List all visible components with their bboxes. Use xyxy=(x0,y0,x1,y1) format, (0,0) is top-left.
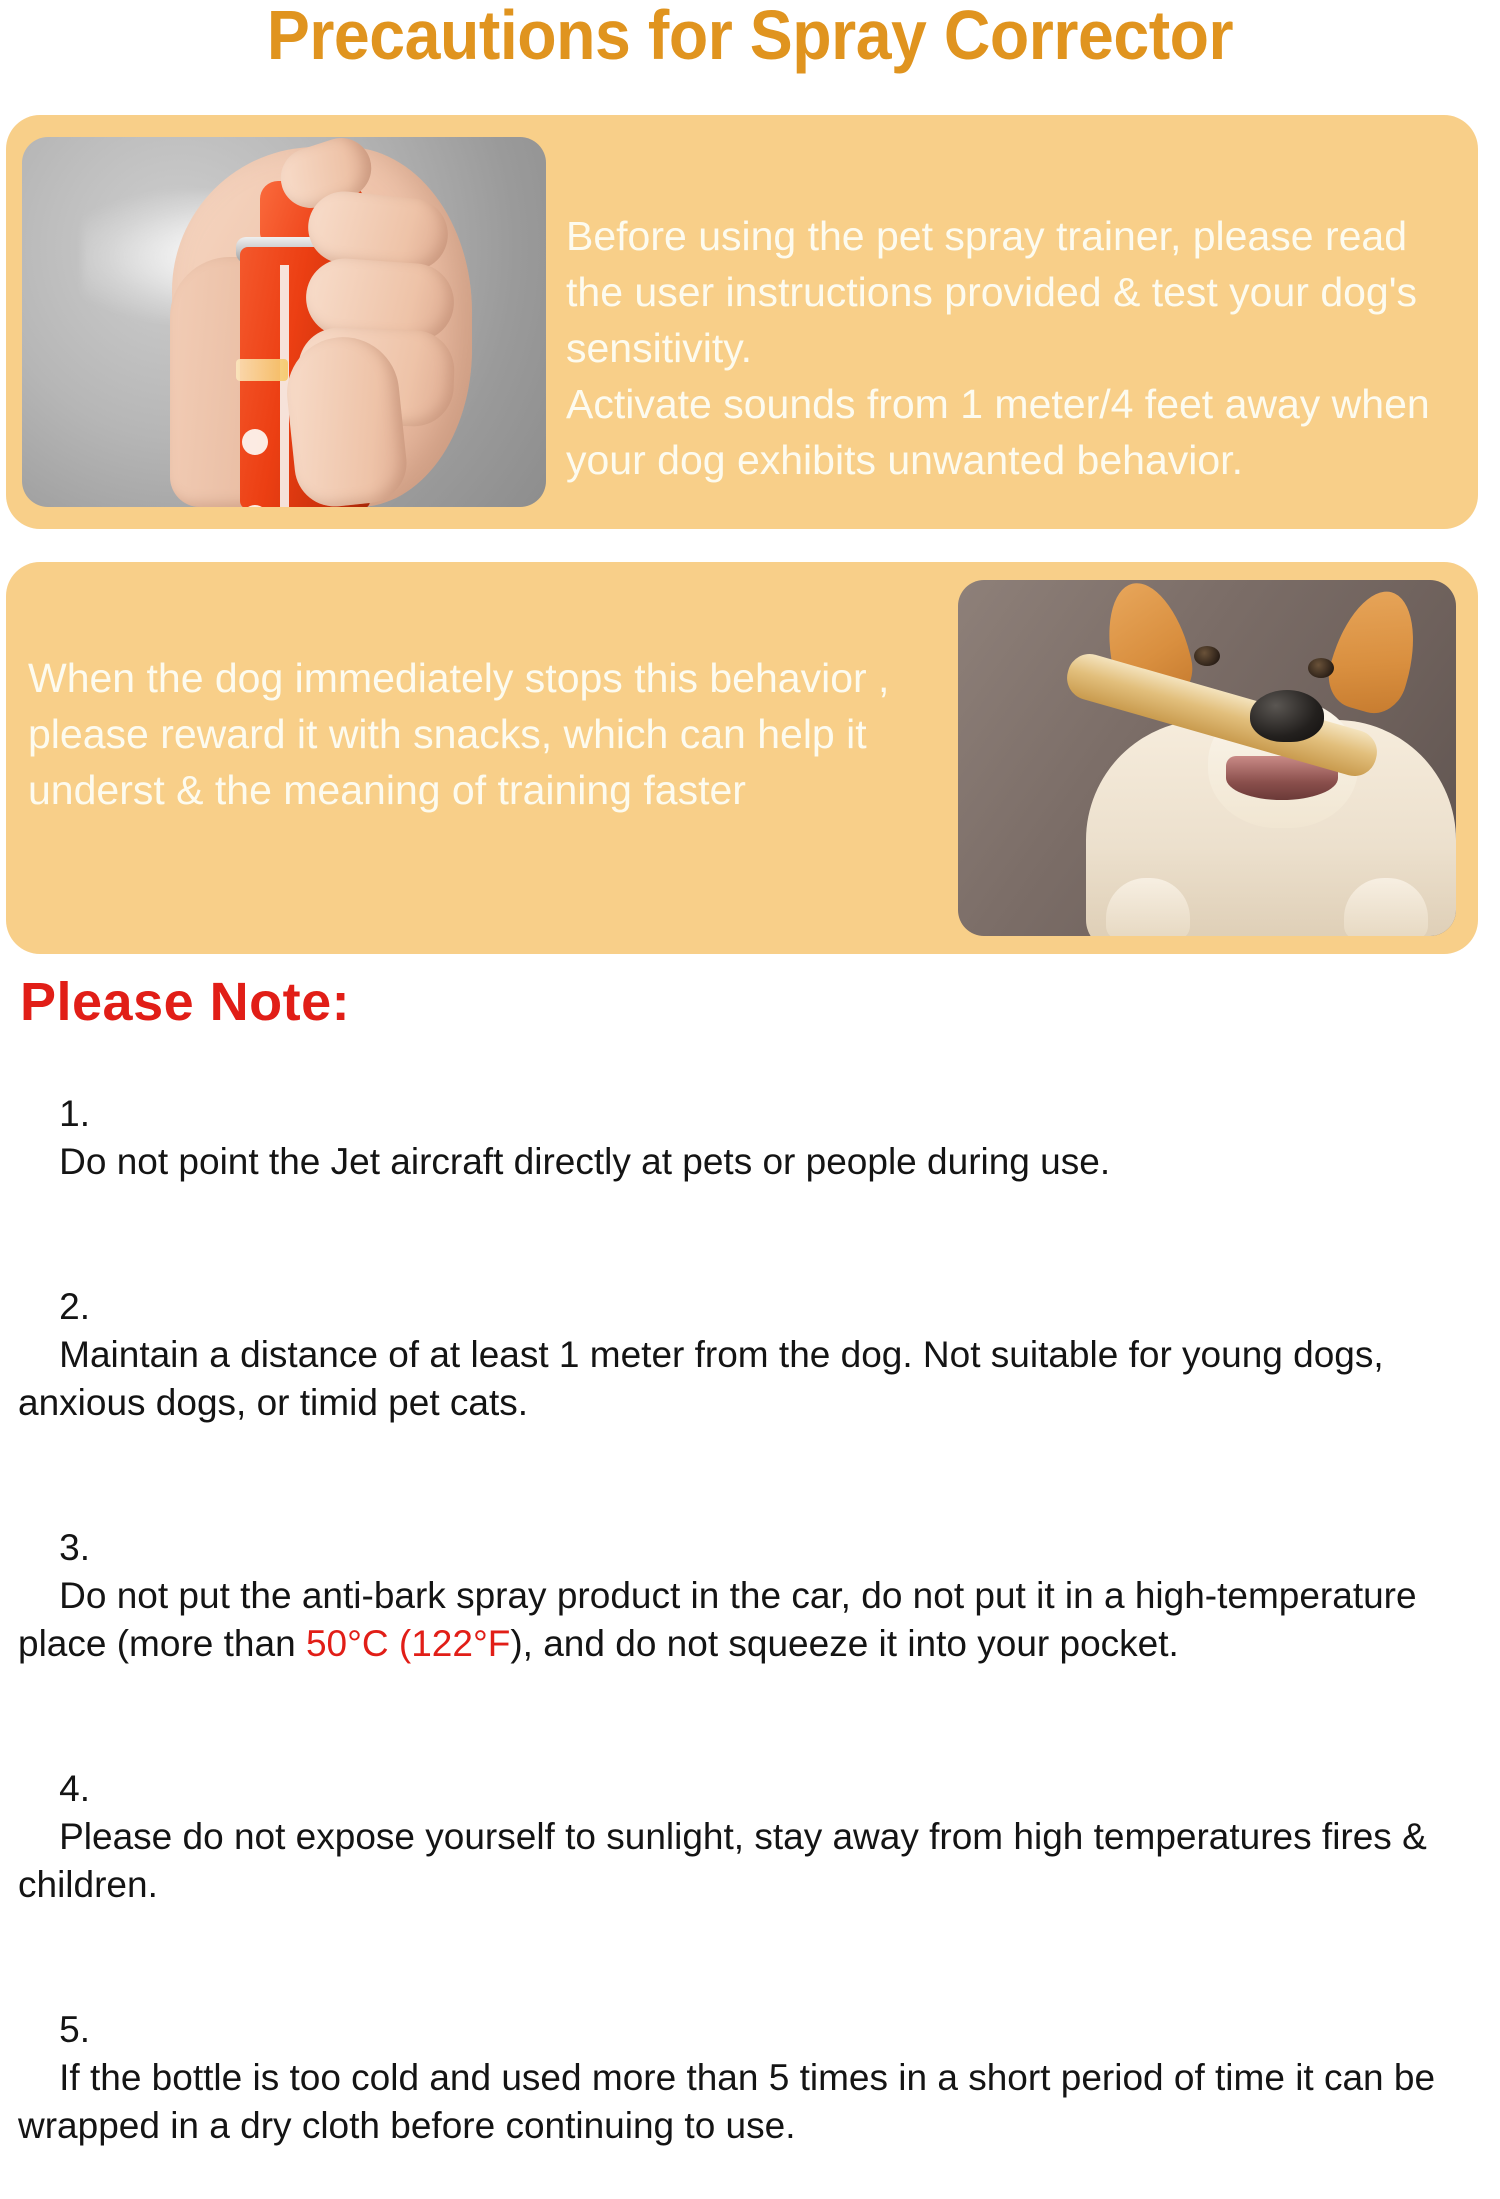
note-list-item: 3. Do not put the anti-bark spray produc… xyxy=(18,1476,1480,1716)
note-list-item: 5. If the bottle is too cold and used mo… xyxy=(18,1958,1480,2198)
temperature-warning-text: 50°C (122°F xyxy=(306,1623,510,1664)
corgi-with-chew-stick-photo xyxy=(958,580,1456,936)
hand-holding-spray-can-photo xyxy=(22,137,546,507)
please-note-heading: Please Note: xyxy=(20,972,350,1032)
note-item-number: 4. xyxy=(59,1768,90,1809)
please-note-list: 1. Do not point the Jet aircraft directl… xyxy=(18,1042,1480,2199)
dog-nose-graphic xyxy=(1250,690,1324,742)
panel-two-text: When the dog immediately stops this beha… xyxy=(28,650,908,818)
can-icon-badge xyxy=(242,429,268,455)
note-item-text-after: ), and do not squeeze it into your pocke… xyxy=(510,1623,1178,1664)
dog-eye-graphic xyxy=(1308,658,1334,678)
dog-eye-graphic xyxy=(1194,646,1220,666)
note-item-text: Please do not expose yourself to sunligh… xyxy=(18,1816,1437,1905)
panel-one-text: Before using the pet spray trainer, plea… xyxy=(566,208,1464,488)
can-label-band-graphic xyxy=(236,359,288,381)
note-item-text: Do not point the Jet aircraft directly a… xyxy=(59,1141,1110,1182)
page-title: Precautions for Spray Corrector xyxy=(60,0,1440,74)
note-item-number: 1. xyxy=(59,1093,90,1134)
note-list-item: 4. Please do not expose yourself to sunl… xyxy=(18,1717,1480,1957)
note-item-text: If the bottle is too cold and used more … xyxy=(18,2057,1445,2146)
note-item-number: 2. xyxy=(59,1286,90,1327)
note-item-number: 3. xyxy=(59,1527,90,1568)
note-item-number: 5. xyxy=(59,2009,90,2050)
note-item-text: Maintain a distance of at least 1 meter … xyxy=(18,1334,1394,1423)
can-icon-badge xyxy=(242,505,268,507)
note-list-item: 2. Maintain a distance of at least 1 met… xyxy=(18,1235,1480,1475)
note-list-item: 1. Do not point the Jet aircraft directl… xyxy=(18,1042,1480,1234)
